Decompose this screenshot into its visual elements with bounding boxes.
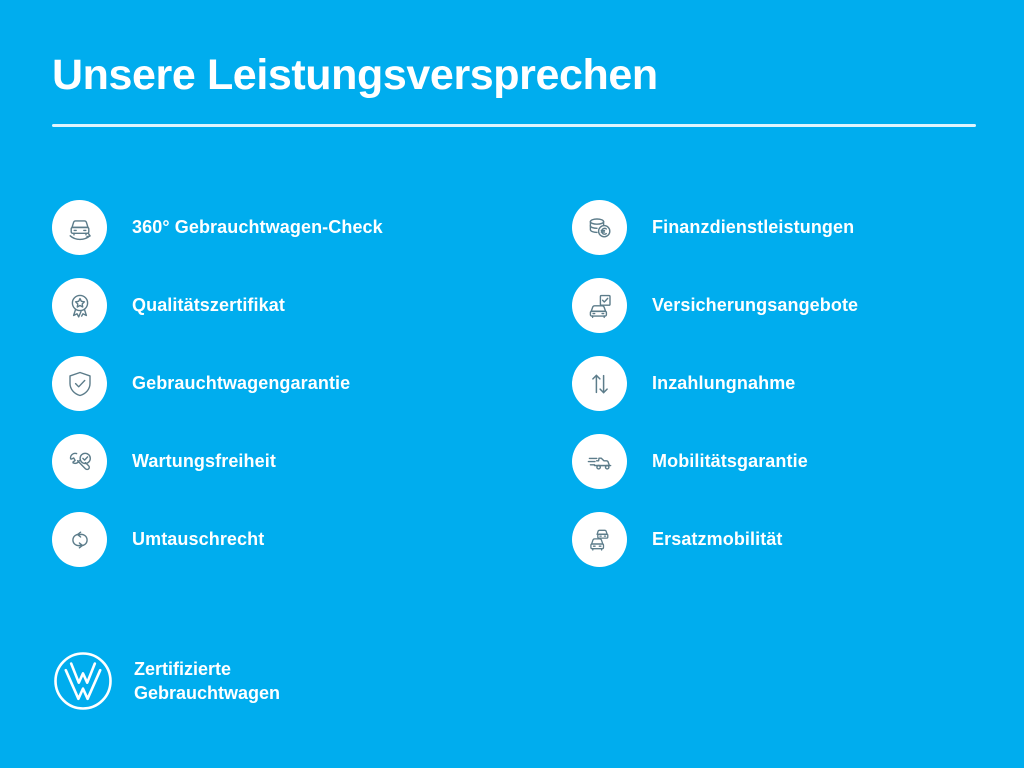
brand-line-1: Zertifizierte — [134, 657, 280, 681]
promise-label: Umtauschrecht — [132, 529, 264, 550]
promise-item-qualitaetszertifikat: Qualitätszertifikat — [52, 278, 572, 333]
promises-left-column: 360° Gebrauchtwagen-Check Qualitätszerti… — [52, 200, 572, 567]
promise-item-ersatzmobilitaet: Ersatzmobilität — [572, 512, 976, 567]
up-down-arrows-icon — [572, 356, 627, 411]
promise-label: Mobilitätsgarantie — [652, 451, 808, 472]
shield-check-icon — [52, 356, 107, 411]
promise-label: Qualitätszertifikat — [132, 295, 285, 316]
promise-label: Ersatzmobilität — [652, 529, 783, 550]
header: Unsere Leistungsversprechen — [52, 52, 976, 127]
brand-line-2: Gebrauchtwagen — [134, 681, 280, 705]
page-title: Unsere Leistungsversprechen — [52, 52, 976, 98]
title-divider — [52, 124, 976, 127]
car-speed-icon — [572, 434, 627, 489]
promise-label: Gebrauchtwagengarantie — [132, 373, 350, 394]
promise-item-gebrauchtwagen-check: 360° Gebrauchtwagen-Check — [52, 200, 572, 255]
wrench-check-icon — [52, 434, 107, 489]
promise-label: Versicherungsangebote — [652, 295, 858, 316]
promises-list: 360° Gebrauchtwagen-Check Qualitätszerti… — [52, 200, 976, 567]
promise-item-mobilitaetsgarantie: Mobilitätsgarantie — [572, 434, 976, 489]
promise-label: Finanzdienstleistungen — [652, 217, 854, 238]
brand-text: Zertifizierte Gebrauchtwagen — [134, 657, 280, 706]
promise-label: 360° Gebrauchtwagen-Check — [132, 217, 383, 238]
volkswagen-logo-icon — [52, 650, 114, 712]
promise-item-finanzdienstleistungen: Finanzdienstleistungen — [572, 200, 976, 255]
promise-item-gebrauchtwagengarantie: Gebrauchtwagengarantie — [52, 356, 572, 411]
car-document-check-icon — [572, 278, 627, 333]
two-cars-icon — [572, 512, 627, 567]
promise-item-inzahlungnahme: Inzahlungnahme — [572, 356, 976, 411]
brand-footer: Zertifizierte Gebrauchtwagen — [52, 650, 280, 712]
exchange-arrows-icon — [52, 512, 107, 567]
promise-item-wartungsfreiheit: Wartungsfreiheit — [52, 434, 572, 489]
promise-label: Inzahlungnahme — [652, 373, 795, 394]
promise-item-umtauschrecht: Umtauschrecht — [52, 512, 572, 567]
promise-item-versicherungsangebote: Versicherungsangebote — [572, 278, 976, 333]
promises-poster: Unsere Leistungsversprechen 360° Gebrauc — [0, 0, 1024, 768]
promise-label: Wartungsfreiheit — [132, 451, 276, 472]
promises-right-column: Finanzdienstleistungen Versicherungsange… — [572, 200, 976, 567]
coins-euro-icon — [572, 200, 627, 255]
car-360-check-icon — [52, 200, 107, 255]
award-rosette-icon — [52, 278, 107, 333]
